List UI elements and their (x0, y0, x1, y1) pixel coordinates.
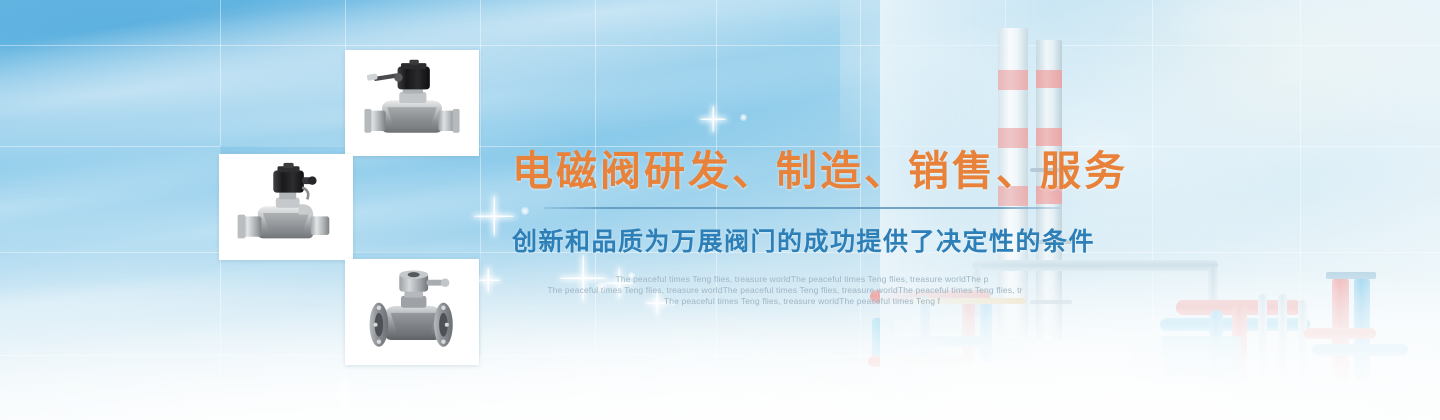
product-photo-frame-1[interactable] (345, 50, 479, 156)
banner-headline: 电磁阀研发、制造、销售、服务 (512, 148, 1092, 195)
stack-band (1036, 128, 1062, 146)
fineprint-line: The peaceful times Teng flies, treasure … (512, 296, 1092, 307)
stack-band (998, 128, 1028, 148)
banner-fineprint: The peaceful times Teng flies, treasure … (512, 274, 1092, 307)
product-photo-frame-2[interactable] (219, 154, 353, 260)
stack-band (1036, 70, 1062, 88)
banner-subheadline: 创新和品质为万展阀门的成功提供了决定性的条件 (512, 222, 1092, 258)
hero-banner: 电磁阀研发、制造、销售、服务 创新和品质为万展阀门的成功提供了决定性的条件 Th… (0, 0, 1440, 420)
headline-divider (544, 207, 1060, 209)
solenoid-valve-flanged-icon (353, 267, 471, 357)
fineprint-line: The peaceful times Teng flies, treasure … (478, 285, 1092, 296)
stack-band (998, 70, 1028, 90)
solenoid-valve-threaded-horizontal-icon (353, 58, 471, 148)
product-photo-frame-3[interactable] (345, 259, 479, 365)
solenoid-valve-threaded-angled-icon (227, 162, 345, 252)
fineprint-line: The peaceful times Teng flies, treasure … (512, 274, 1092, 285)
banner-text-block: 电磁阀研发、制造、销售、服务 创新和品质为万展阀门的成功提供了决定性的条件 Th… (512, 148, 1092, 307)
